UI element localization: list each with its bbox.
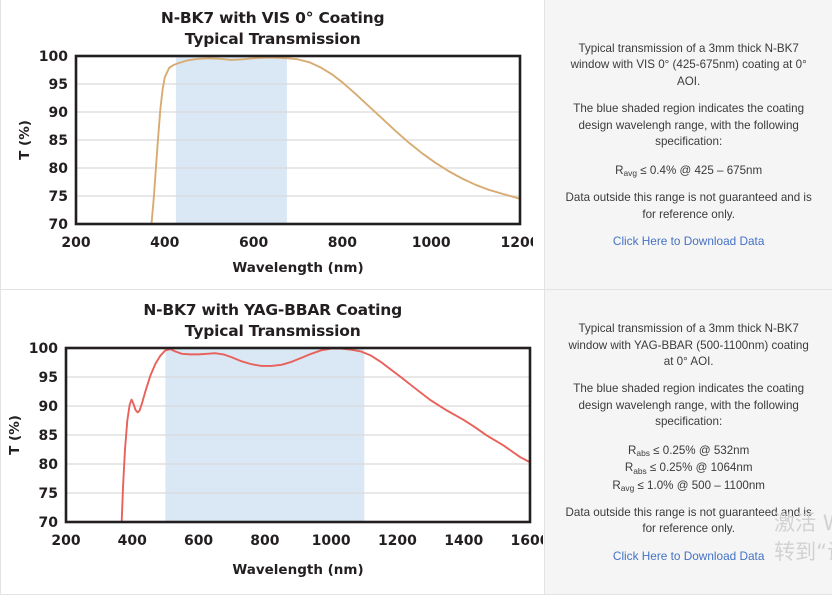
y-tick-label: 85 <box>38 428 57 444</box>
y-tick-label: 85 <box>48 133 67 149</box>
chart-title-yag-line2: Typical Transmission <box>1 321 544 342</box>
chart-cell-vis: N-BK7 with VIS 0° Coating Typical Transm… <box>1 0 545 290</box>
y-tick-label: 100 <box>28 342 57 357</box>
y-tick-label: 95 <box>48 77 67 93</box>
info-vis-specifications: Ravg ≤ 0.4% @ 425 – 675nm <box>615 162 762 179</box>
chart-title-yag: N-BK7 with YAG-BBAR Coating Typical Tran… <box>1 300 544 342</box>
y-axis-label: T (%) <box>17 120 33 160</box>
info-panel-yag: Typical transmission of a 3mm thick N-BK… <box>545 290 832 595</box>
x-tick-label: 600 <box>239 235 268 251</box>
info-yag-specifications: Rabs ≤ 0.25% @ 532nmRabs ≤ 0.25% @ 1064n… <box>612 442 765 494</box>
chart-title-vis: N-BK7 with VIS 0° Coating Typical Transm… <box>1 8 544 50</box>
spec-value: ≤ 0.4% @ 425 – 675nm <box>637 164 762 177</box>
chart-svg-yag: 7075808590951002004006008001000120014001… <box>3 342 543 582</box>
spec-subscript: abs <box>636 448 650 458</box>
chart-row-yag: N-BK7 with YAG-BBAR Coating Typical Tran… <box>1 290 832 595</box>
x-tick-label: 1000 <box>311 533 350 549</box>
spec-subscript: avg <box>624 168 638 178</box>
spec-subscript: abs <box>633 466 647 476</box>
spec-line: Ravg ≤ 0.4% @ 425 – 675nm <box>615 162 762 179</box>
x-tick-label: 1200 <box>378 533 417 549</box>
watermark-line-2: 转到“设 <box>774 538 832 566</box>
x-tick-label: 1000 <box>411 235 450 251</box>
info-vis-paragraph-2: The blue shaded region indicates the coa… <box>563 101 815 150</box>
y-tick-label: 75 <box>48 189 67 205</box>
y-axis-label: T (%) <box>7 415 23 455</box>
y-tick-label: 70 <box>48 217 68 233</box>
info-panel-vis: Typical transmission of a 3mm thick N-BK… <box>545 0 832 290</box>
chart-svg-vis: 70758085909510020040060080010001200Wavel… <box>13 50 533 280</box>
chart-title-yag-line1: N-BK7 with YAG-BBAR Coating <box>1 300 544 321</box>
spec-line: Ravg ≤ 1.0% @ 500 – 1100nm <box>612 477 765 494</box>
y-tick-label: 70 <box>38 515 58 531</box>
chart-cell-yag: N-BK7 with YAG-BBAR Coating Typical Tran… <box>1 290 545 595</box>
info-vis-paragraph-1: Typical transmission of a 3mm thick N-BK… <box>563 41 815 90</box>
x-tick-label: 200 <box>51 533 80 549</box>
x-tick-label: 800 <box>250 533 279 549</box>
y-tick-label: 90 <box>48 105 68 121</box>
spec-value: ≤ 1.0% @ 500 – 1100nm <box>634 479 765 492</box>
y-tick-label: 100 <box>38 50 67 65</box>
x-tick-label: 1400 <box>444 533 483 549</box>
y-tick-label: 80 <box>48 161 68 177</box>
chart-plot-yag: 7075808590951002004006008001000120014001… <box>1 342 544 582</box>
chart-title-vis-line1: N-BK7 with VIS 0° Coating <box>1 8 544 29</box>
spec-line: Rabs ≤ 0.25% @ 1064nm <box>612 459 765 476</box>
transmission-charts-page: N-BK7 with VIS 0° Coating Typical Transm… <box>0 0 832 595</box>
info-yag-paragraph-2: The blue shaded region indicates the coa… <box>563 381 815 430</box>
info-yag-paragraph-3: Data outside this range is not guarantee… <box>563 505 815 538</box>
download-data-link-vis[interactable]: Click Here to Download Data <box>613 234 764 248</box>
y-tick-label: 75 <box>38 486 57 502</box>
x-axis-label: Wavelength (nm) <box>232 562 363 578</box>
spec-value: ≤ 0.25% @ 532nm <box>650 444 749 457</box>
spec-symbol: R <box>615 164 623 177</box>
x-tick-label: 200 <box>61 235 90 251</box>
download-data-link-yag[interactable]: Click Here to Download Data <box>613 549 764 563</box>
y-tick-label: 80 <box>38 457 58 473</box>
x-axis-label: Wavelength (nm) <box>232 260 363 276</box>
spec-symbol: R <box>625 461 633 474</box>
x-tick-label: 1200 <box>500 235 532 251</box>
x-tick-label: 600 <box>184 533 213 549</box>
y-tick-label: 95 <box>38 370 57 386</box>
chart-row-vis: N-BK7 with VIS 0° Coating Typical Transm… <box>1 0 832 290</box>
spec-value: ≤ 0.25% @ 1064nm <box>647 461 753 474</box>
chart-title-vis-line2: Typical Transmission <box>1 29 544 50</box>
x-tick-label: 1600 <box>510 533 542 549</box>
spec-symbol: R <box>612 479 620 492</box>
y-tick-label: 90 <box>38 399 58 415</box>
x-tick-label: 800 <box>327 235 356 251</box>
x-tick-label: 400 <box>150 235 179 251</box>
x-tick-label: 400 <box>117 533 146 549</box>
spec-subscript: avg <box>621 483 635 493</box>
spec-line: Rabs ≤ 0.25% @ 532nm <box>612 442 765 459</box>
info-vis-paragraph-3: Data outside this range is not guarantee… <box>563 190 815 223</box>
info-yag-paragraph-1: Typical transmission of a 3mm thick N-BK… <box>563 321 815 370</box>
chart-plot-vis: 70758085909510020040060080010001200Wavel… <box>1 50 544 280</box>
